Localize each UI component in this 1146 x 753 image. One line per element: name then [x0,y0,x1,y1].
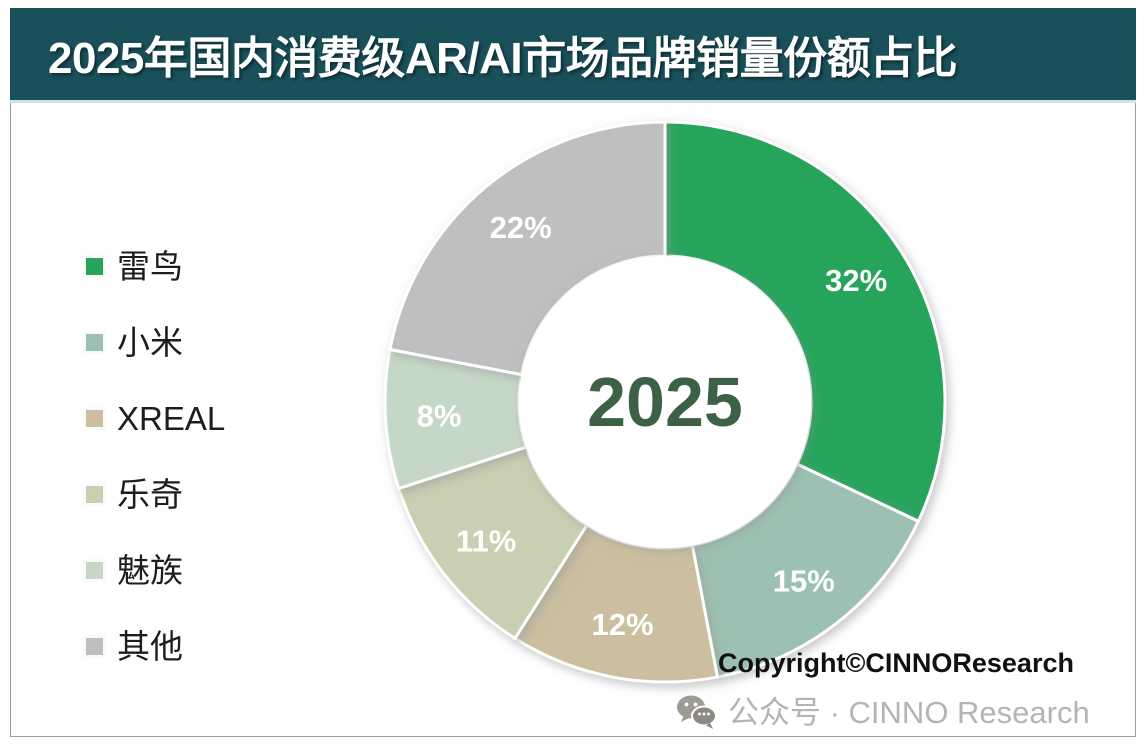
donut-center-label: 2025 [587,363,743,441]
legend-item-label: XREAL [117,402,225,435]
page-title: 2025年国内消费级AR/AI市场品牌销量份额占比 [48,22,957,86]
legend-item-label: 小米 [117,326,183,359]
donut-slice-label: 11% [456,523,516,558]
legend-item-label: 魅族 [117,554,183,587]
copyright-text: Copyright©CINNOResearch [718,648,1074,679]
donut-chart-svg: 2025 32%15%12%11%8%22% [355,92,975,712]
legend-swatch-icon [86,486,103,503]
legend-item-label: 其他 [117,630,183,663]
legend-item[interactable]: 魅族 [86,532,316,608]
watermark: 公众号 · CINNO Research [676,694,1090,730]
wechat-icon [676,694,718,730]
legend-swatch-icon [86,638,103,655]
legend-item[interactable]: 乐奇 [86,456,316,532]
chart-page: 2025年国内消费级AR/AI市场品牌销量份额占比 雷鸟小米XREAL乐奇魅族其… [0,0,1146,753]
donut-slice-label: 32% [825,263,887,298]
legend-item-label: 乐奇 [117,478,183,511]
legend-item-label: 雷鸟 [117,250,183,283]
donut-slice-label: 22% [490,210,552,245]
legend-swatch-icon [86,410,103,427]
donut-slice-label: 15% [773,563,835,598]
chart-legend: 雷鸟小米XREAL乐奇魅族其他 [86,228,316,684]
legend-item[interactable]: XREAL [86,380,316,456]
legend-swatch-icon [86,562,103,579]
legend-item[interactable]: 其他 [86,608,316,684]
watermark-text: 公众号 · CINNO Research [728,697,1090,728]
donut-slice-label: 12% [592,607,654,642]
legend-swatch-icon [86,334,103,351]
legend-item[interactable]: 小米 [86,304,316,380]
title-banner: 2025年国内消费级AR/AI市场品牌销量份额占比 [10,8,1136,100]
legend-swatch-icon [86,258,103,275]
donut-slice-label: 8% [417,399,462,434]
donut-chart: 2025 32%15%12%11%8%22% [355,92,975,712]
legend-item[interactable]: 雷鸟 [86,228,316,304]
